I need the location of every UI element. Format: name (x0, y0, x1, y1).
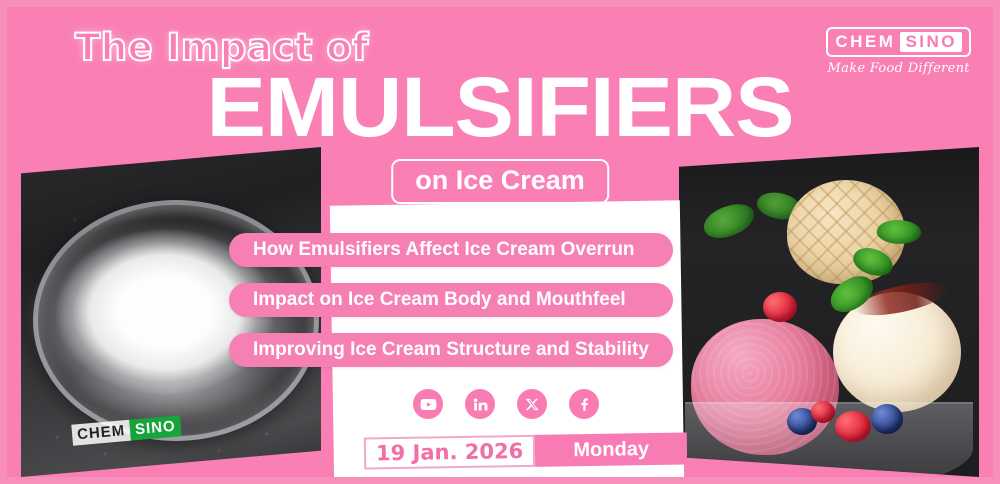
linkedin-icon[interactable] (465, 389, 495, 419)
youtube-icon[interactable] (413, 389, 443, 419)
raspberry-icon (835, 411, 871, 442)
ice-cream-image (679, 147, 979, 477)
topic-item[interactable]: How Emulsifiers Affect Ice Cream Overrun (229, 233, 673, 267)
promo-banner: CHEM SINO The Impact o (0, 0, 1000, 484)
page-subtitle: on Ice Cream (391, 159, 609, 204)
logo-text-sino: SINO (900, 32, 962, 52)
topic-list: How Emulsifiers Affect Ice Cream Overrun… (229, 233, 673, 383)
dish-watermark-sino: SINO (129, 415, 181, 440)
topic-item[interactable]: Impact on Ice Cream Body and Mouthfeel (229, 283, 673, 317)
raspberry-icon (811, 401, 835, 423)
page-title: EMULSIFIERS (0, 69, 1000, 146)
topic-item[interactable]: Improving Ice Cream Structure and Stabil… (229, 333, 673, 367)
logo-box: CHEM SINO (826, 27, 971, 57)
date-bar: 19 Jan. 2026 Monday (364, 432, 688, 469)
x-twitter-icon[interactable] (517, 389, 547, 419)
facebook-icon[interactable] (569, 389, 599, 419)
date-value: 19 Jan. 2026 (364, 435, 536, 470)
logo-text-chem: CHEM (835, 32, 895, 52)
brand-logo[interactable]: CHEM SINO Make Food Different (826, 27, 971, 76)
mint-leaf-icon (700, 201, 758, 243)
social-links (413, 389, 599, 419)
raspberry-icon (763, 292, 797, 322)
logo-tagline: Make Food Different (826, 61, 971, 76)
date-weekday: Monday (535, 432, 687, 466)
banner-background: CHEM SINO The Impact o (7, 7, 993, 477)
